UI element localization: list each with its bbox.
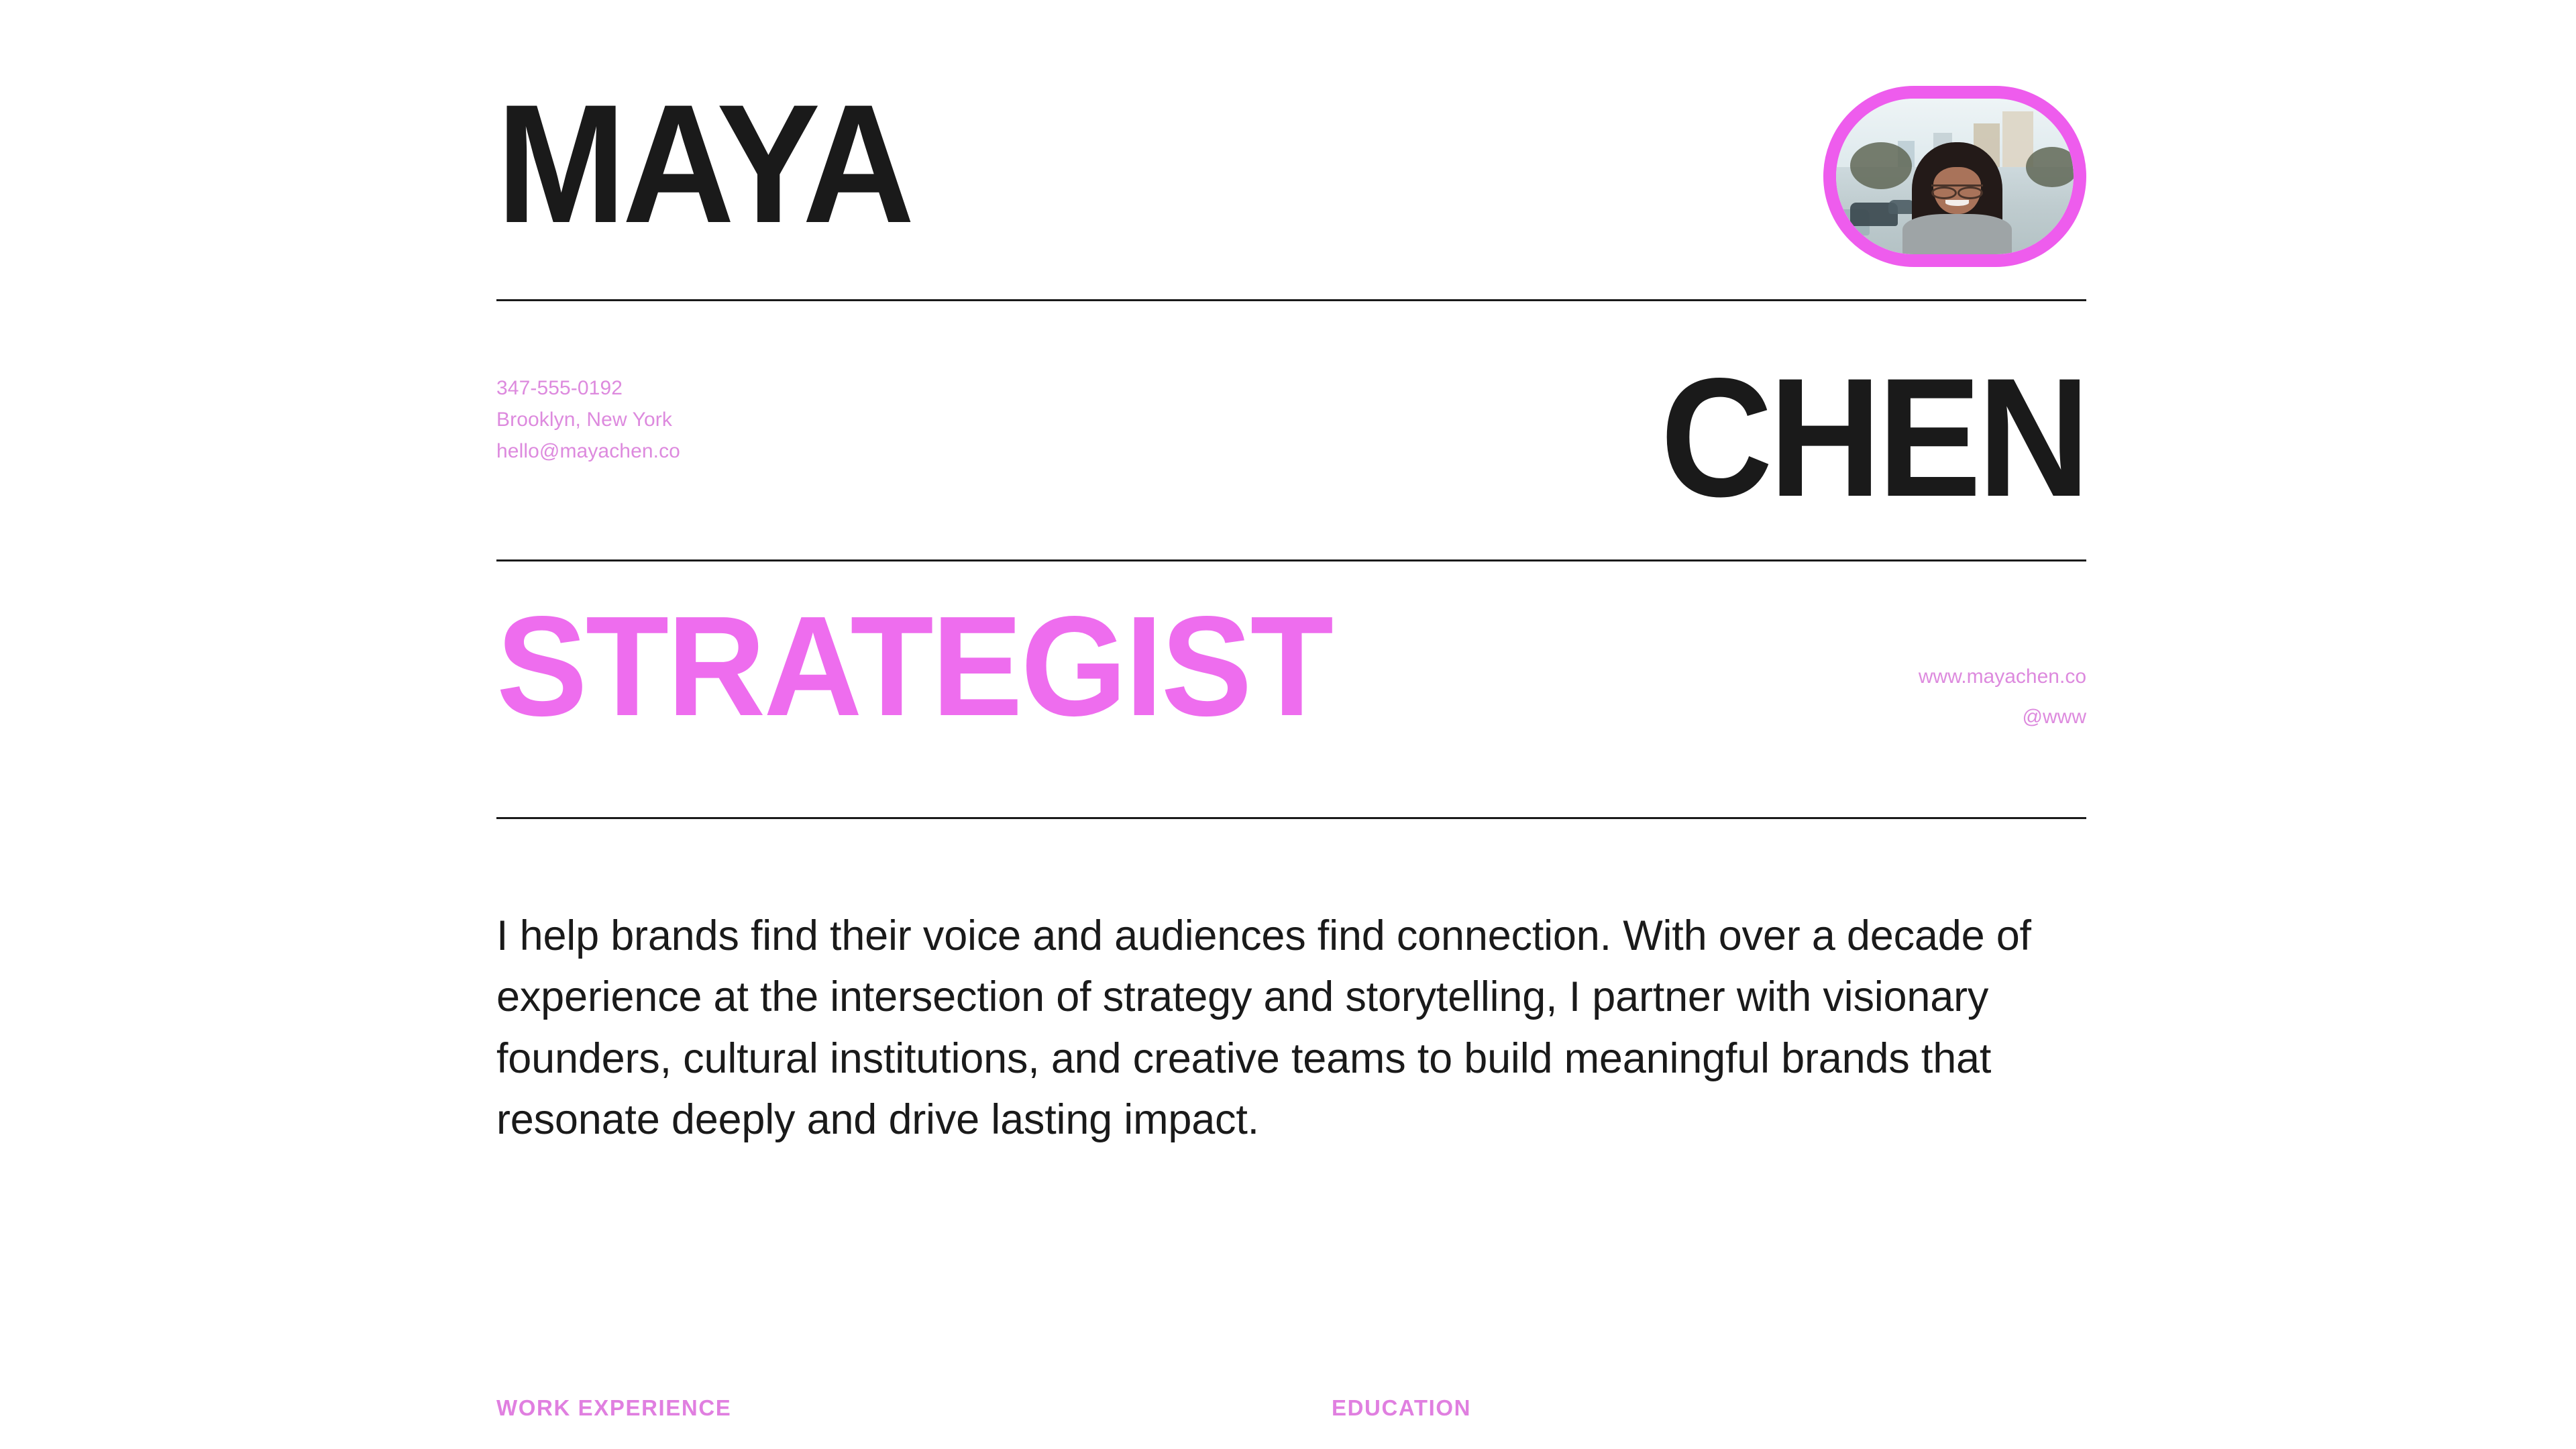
first-name: MAYA (496, 93, 911, 236)
social-handle[interactable]: @www (1919, 706, 2086, 729)
divider-rule-1 (496, 299, 2086, 301)
avatar (1823, 86, 2086, 267)
section-heading-education: EDUCATION (1332, 1395, 1471, 1421)
divider-rule-3 (496, 817, 2086, 819)
photo-tree (2026, 147, 2074, 187)
avatar-image (1836, 99, 2074, 254)
photo-tree (1850, 142, 1912, 189)
contact-block: 347-555-0192 Brooklyn, New York hello@ma… (496, 366, 680, 463)
role-title: STRATEGIST (496, 604, 1332, 729)
section-headings: WORK EXPERIENCE EDUCATION (496, 1395, 2086, 1449)
section-heading-work-experience: WORK EXPERIENCE (496, 1395, 731, 1421)
glasses-icon (1931, 184, 1984, 195)
website-link[interactable]: www.mayachen.co (1919, 665, 2086, 688)
resume-page: MAYA 3 (0, 0, 2576, 1449)
photo-person-body (1902, 214, 2012, 254)
header-row-top: MAYA (496, 80, 2086, 282)
last-name: CHEN (1660, 366, 2086, 510)
summary-paragraph: I help brands find their voice and audie… (496, 906, 2106, 1150)
photo-car (1888, 200, 1915, 214)
contact-email[interactable]: hello@mayachen.co (496, 440, 680, 463)
header-row-bottom: 347-555-0192 Brooklyn, New York hello@ma… (496, 366, 2086, 547)
contact-phone[interactable]: 347-555-0192 (496, 377, 680, 400)
links-block: www.mayachen.co @www (1919, 604, 2086, 729)
role-row: STRATEGIST www.mayachen.co @www (496, 604, 2086, 792)
divider-rule-2 (496, 559, 2086, 561)
contact-location: Brooklyn, New York (496, 409, 680, 431)
